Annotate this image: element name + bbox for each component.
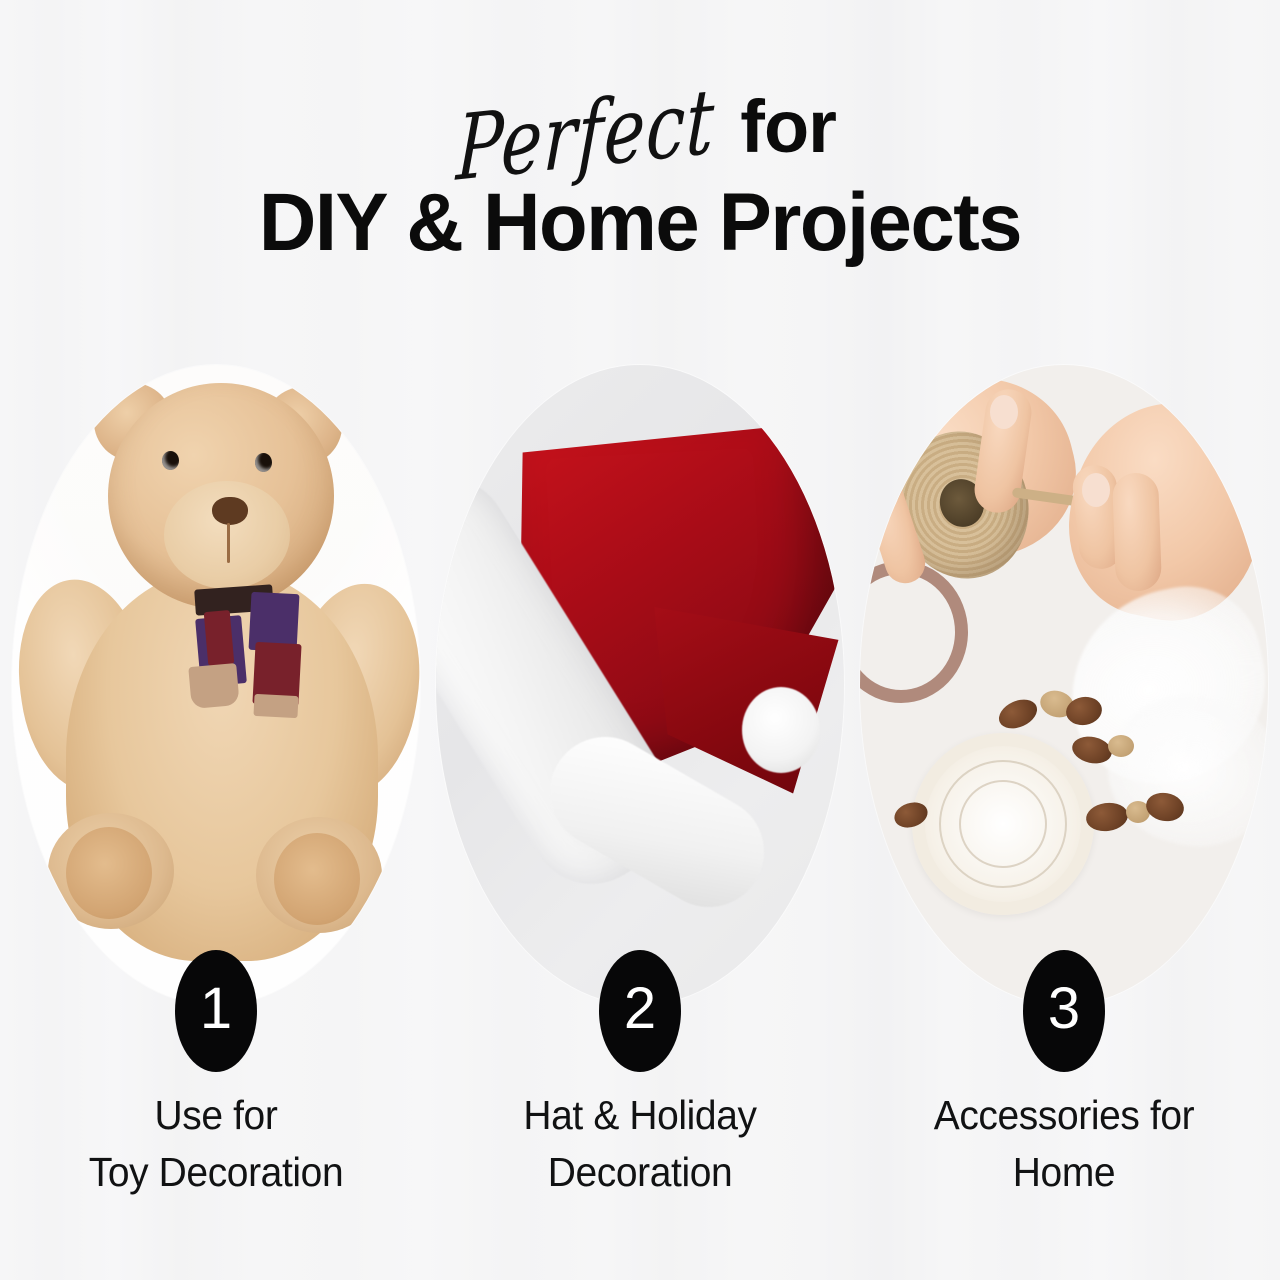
card-3-caption: Accessories for Home [865,1087,1264,1200]
santa-hat-pompom-shape [742,687,820,773]
step-badge-3: 3 [1023,950,1105,1072]
fingernail-shape [990,395,1018,429]
bear-mouth-shape [227,523,230,563]
step-badge-number: 3 [1048,980,1080,1038]
dreamcatcher-shape [912,733,1094,915]
fingernail-shape [1082,473,1110,507]
caption-line-2: Toy Decoration [17,1144,416,1201]
caption-line-2: Home [865,1144,1264,1201]
card-3-photo-wrap: 3 [860,365,1268,1005]
caption-line-2: Decoration [441,1144,840,1201]
card-1-photo-wrap: 1 [12,365,420,1005]
bear-scarf-segment [204,610,235,666]
feature-card-2[interactable]: 2 Hat & Holiday Decoration [430,365,850,1225]
caption-line-1: Use for [17,1087,416,1144]
wooden-bead-shape [1108,735,1134,757]
card-2-caption: Hat & Holiday Decoration [441,1087,840,1200]
feature-cards-row: 1 Use for Toy Decoration [0,365,1280,1225]
card-1-caption: Use for Toy Decoration [17,1087,416,1200]
card-2-photo-wrap: 2 [436,365,844,1005]
bear-eye-right-shape [255,453,272,472]
feature-card-1[interactable]: 1 Use for Toy Decoration [6,365,426,1225]
caption-line-1: Accessories for [865,1087,1264,1144]
bear-paw-pad-right-shape [274,833,360,925]
step-badge-1: 1 [175,950,257,1072]
step-badge-number: 1 [200,980,232,1038]
bear-nose-shape [212,497,248,525]
step-badge-number: 2 [624,980,656,1038]
banner-header: Perfectfor DIY & Home Projects [0,0,1280,300]
bear-scarf-segment [253,694,298,718]
bear-eye-left-shape [162,451,179,470]
teddy-bear-photo [12,365,420,1005]
feature-card-3[interactable]: 3 Accessories for Home [854,365,1274,1225]
craft-hands-photo [860,365,1268,1005]
promo-banner: Perfectfor DIY & Home Projects [0,0,1280,1280]
finger-shape [1112,472,1162,592]
step-badge-2: 2 [599,950,681,1072]
bear-scarf-segment [188,663,239,709]
bear-paw-pad-left-shape [66,827,152,919]
caption-line-1: Hat & Holiday [441,1087,840,1144]
page-title: DIY & Home Projects [19,182,1261,264]
headline-emphasis-word: for [740,90,836,164]
santa-hat-photo [436,365,844,1005]
